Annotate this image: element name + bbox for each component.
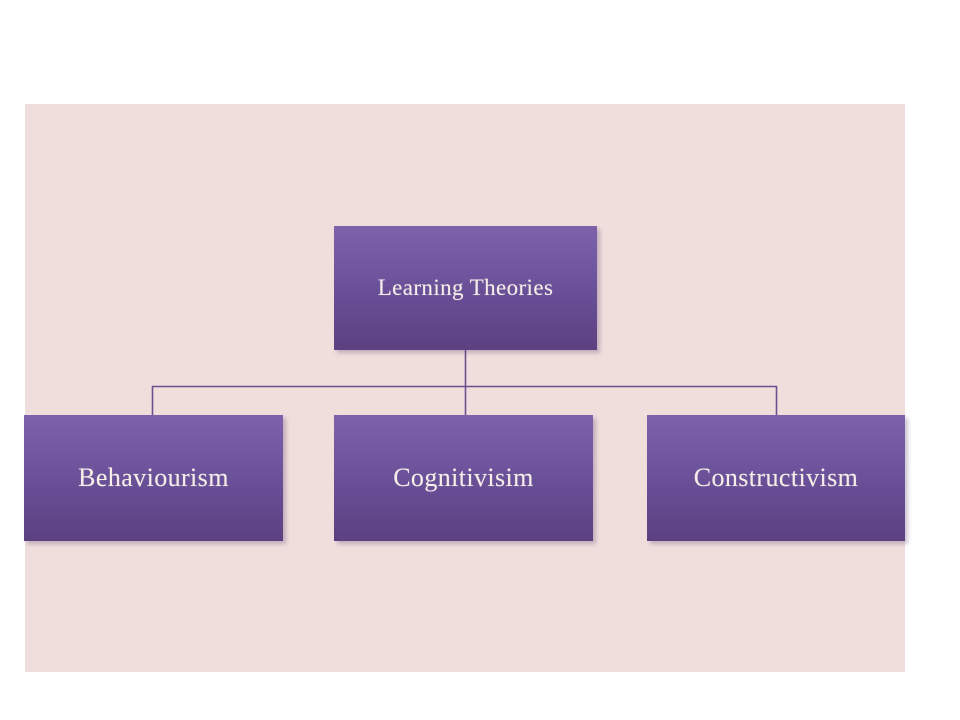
node-label: Learning Theories: [378, 275, 554, 300]
slide-canvas: Learning Theories Behaviourism Cognitivi…: [0, 0, 960, 720]
learning-theories-hierarchy-diagram: Learning Theories Behaviourism Cognitivi…: [0, 0, 960, 720]
node-label: Cognitivisim: [393, 464, 534, 493]
node-behaviourism[interactable]: Behaviourism: [24, 415, 283, 541]
connector-lines: [0, 0, 960, 720]
node-learning-theories[interactable]: Learning Theories: [334, 226, 597, 350]
node-label: Behaviourism: [78, 464, 229, 493]
node-constructivism[interactable]: Constructivism: [647, 415, 905, 541]
node-label: Constructivism: [694, 464, 859, 493]
node-cognitivisim[interactable]: Cognitivisim: [334, 415, 593, 541]
